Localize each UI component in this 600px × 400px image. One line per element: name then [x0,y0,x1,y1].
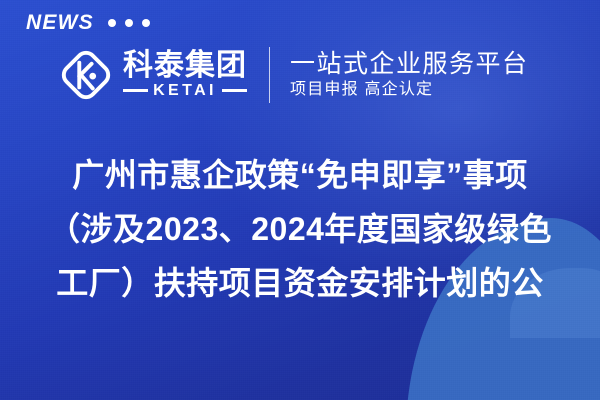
news-poster: NEWS 科泰集团 [0,0,600,400]
news-dots-icon [108,19,150,27]
news-kicker: NEWS [26,12,150,33]
brand-tagline: 一站式企业服务平台 项目申报 高企认定 [290,51,529,98]
news-dot-icon [142,19,150,27]
brand-name-en-row: KETAI [123,83,247,99]
brand-lockup: 科泰集团 KETAI [0,47,247,103]
headline-line: 广州市惠企政策“免申即享”事项 [18,148,582,202]
headline-line: （涉及2023、2024年度国家级绿色 [18,202,582,256]
tagline-secondary: 项目申报 高企认定 [290,82,529,99]
brand-divider [269,47,270,103]
brand-bar: 科泰集团 KETAI 一站式企业服务平台 项目申报 高企认定 [0,42,600,108]
ketai-diamond-k-logo-icon [58,47,114,103]
brand-name-cn: 科泰集团 [123,51,247,82]
tagline-primary: 一站式企业服务平台 [290,51,529,77]
news-dot-icon [125,19,133,27]
news-label: NEWS [26,12,94,33]
brand-rule-right-icon [222,89,247,92]
brand-names: 科泰集团 KETAI [123,51,247,99]
brand-name-en: KETAI [153,83,217,99]
headline-line: 工厂）扶持项目资金安排计划的公 [18,256,582,310]
brand-rule-left-icon [123,89,148,92]
headline: 广州市惠企政策“免申即享”事项 （涉及2023、2024年度国家级绿色 工厂）扶… [0,148,600,310]
news-dot-icon [108,19,116,27]
